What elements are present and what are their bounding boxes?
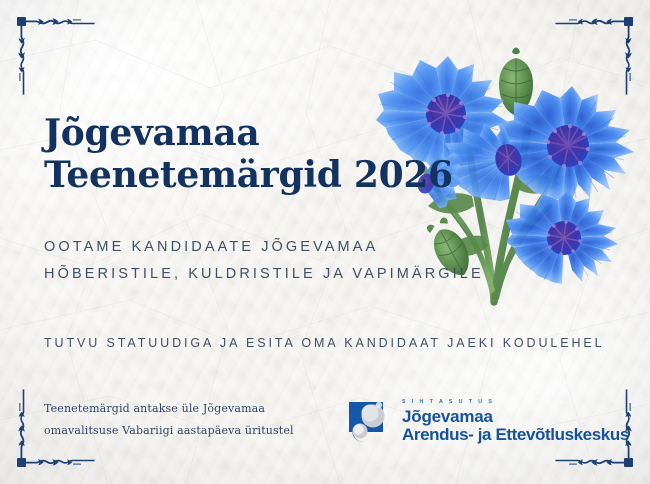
poster-content: Jõgevamaa Teenetemärgid 2026 OOTAME KAND… xyxy=(0,0,650,484)
logo-kicker: S I H T A S U T U S xyxy=(402,400,629,405)
footnote: Teenetemärgid antakse üle Jõgevamaa omav… xyxy=(44,398,314,442)
call-to-action-text: TUTVU STATUUDIGA JA ESITA OMA KANDIDAAT … xyxy=(44,336,624,350)
organization-logo[interactable]: S I H T A S U T U S Jõgevamaa Arendus- j… xyxy=(349,400,629,444)
circles-square-logo-icon xyxy=(349,400,394,444)
logo-name-line2: Arendus- ja Ettevõtluskeskus xyxy=(402,426,629,443)
page-title-line1: Jõgevamaa xyxy=(44,112,259,154)
poster-canvas: Jõgevamaa Teenetemärgid 2026 OOTAME KAND… xyxy=(0,0,650,484)
subtitle-line2: HÕBERISTILE, KULDRISTILE JA VAPIMÄRGILE xyxy=(44,261,544,288)
subtitle: OOTAME KANDIDAATE JÕGEVAMAA HÕBERISTILE,… xyxy=(44,234,544,288)
subtitle-line1: OOTAME KANDIDAATE JÕGEVAMAA xyxy=(44,239,378,255)
logo-name-line1: Jõgevamaa xyxy=(402,408,629,425)
page-title-line2: Teenetemärgid 2026 xyxy=(44,154,464,196)
page-title: Jõgevamaa Teenetemärgid 2026 xyxy=(44,112,464,197)
logo-wordmark: S I H T A S U T U S Jõgevamaa Arendus- j… xyxy=(402,400,629,444)
footnote-line1: Teenetemärgid antakse üle Jõgevamaa xyxy=(44,402,265,415)
footnote-line2: omavalitsuse Vabariigi aastapäeva üritus… xyxy=(44,420,314,442)
